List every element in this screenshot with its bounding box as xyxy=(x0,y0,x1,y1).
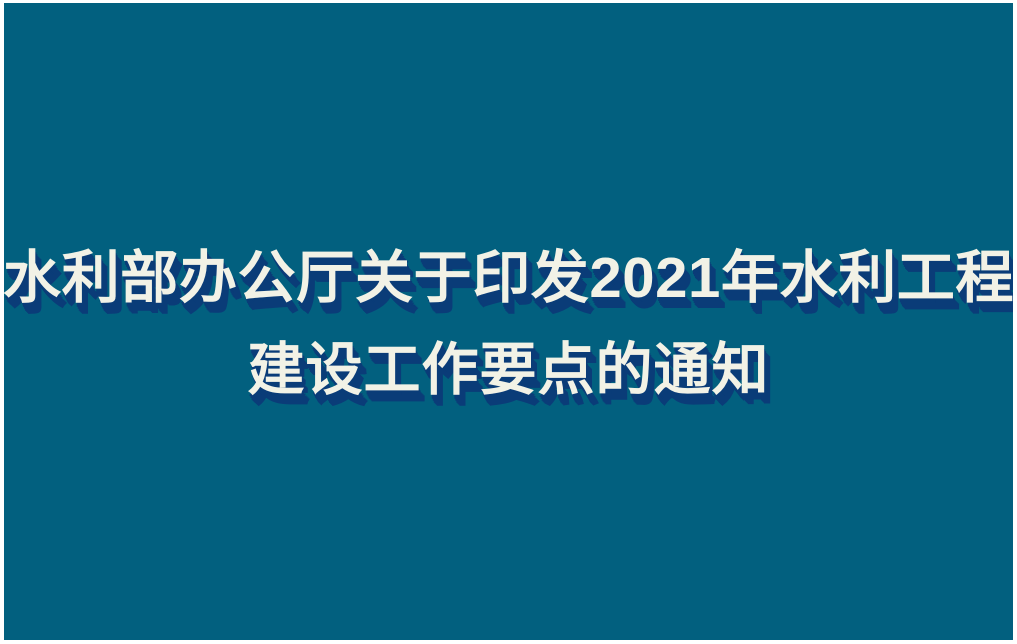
frame-edge-bottom xyxy=(0,640,1017,644)
banner-canvas: 水利部办公厅关于印发2021年水利工程 建设工作要点的通知 xyxy=(0,0,1017,644)
frame-edge-left xyxy=(0,0,4,644)
title-line-2: 建设工作要点的通知 xyxy=(0,324,1017,416)
frame-edge-right xyxy=(1013,0,1017,644)
title-line-1: 水利部办公厅关于印发2021年水利工程 xyxy=(0,232,1017,324)
title-block: 水利部办公厅关于印发2021年水利工程 建设工作要点的通知 xyxy=(0,232,1017,416)
frame-edge-top xyxy=(0,0,1017,3)
